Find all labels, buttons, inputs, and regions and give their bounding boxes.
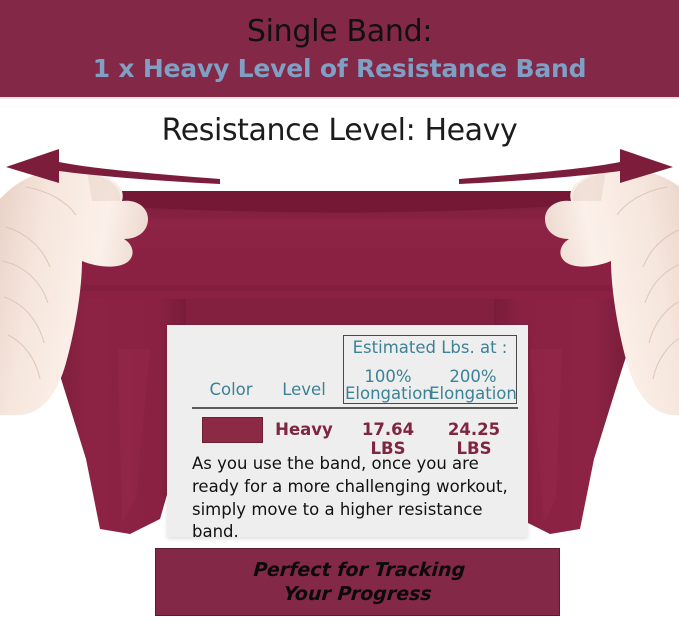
column-header-200-elongation: 200% Elongation <box>429 369 517 403</box>
estimated-lbs-header: Estimated Lbs. at : <box>343 340 517 357</box>
usage-note-text: As you use the band, once you are ready … <box>192 453 510 544</box>
header-banner: Single Band: 1 x Heavy Level of Resistan… <box>0 0 679 99</box>
arrow-right-icon <box>459 143 675 185</box>
table-header-divider <box>192 407 518 409</box>
resistance-level-heading: Resistance Level: Heavy <box>0 113 679 148</box>
column-header-200-elongation-word: Elongation <box>429 386 517 403</box>
specification-panel: Estimated Lbs. at : Color Level 100% Elo… <box>167 325 528 537</box>
column-header-100-elongation-word: Elongation <box>345 386 431 403</box>
hand-gripping-band-right-icon <box>521 157 679 417</box>
column-header-color: Color <box>195 382 267 399</box>
arrow-left-icon <box>4 143 220 185</box>
product-photo-stage: Resistance Level: Heavy Estimated Lbs. a… <box>0 99 679 621</box>
tracking-banner-text: Perfect for Tracking Your Progress <box>154 559 562 607</box>
header-title-sub: 1 x Heavy Level of Resistance Band <box>0 54 679 83</box>
tracking-banner: Perfect for Tracking Your Progress <box>155 548 560 616</box>
column-header-100-elongation: 100% Elongation <box>345 369 431 403</box>
header-title-main: Single Band: <box>0 14 679 49</box>
column-header-level: Level <box>269 382 339 399</box>
row-level-value: Heavy <box>269 420 339 439</box>
band-color-swatch <box>202 417 263 443</box>
tracking-banner-line2: Your Progress <box>154 583 561 607</box>
hand-gripping-band-left-icon <box>0 157 172 417</box>
tracking-banner-line1: Perfect for Tracking <box>156 559 563 583</box>
